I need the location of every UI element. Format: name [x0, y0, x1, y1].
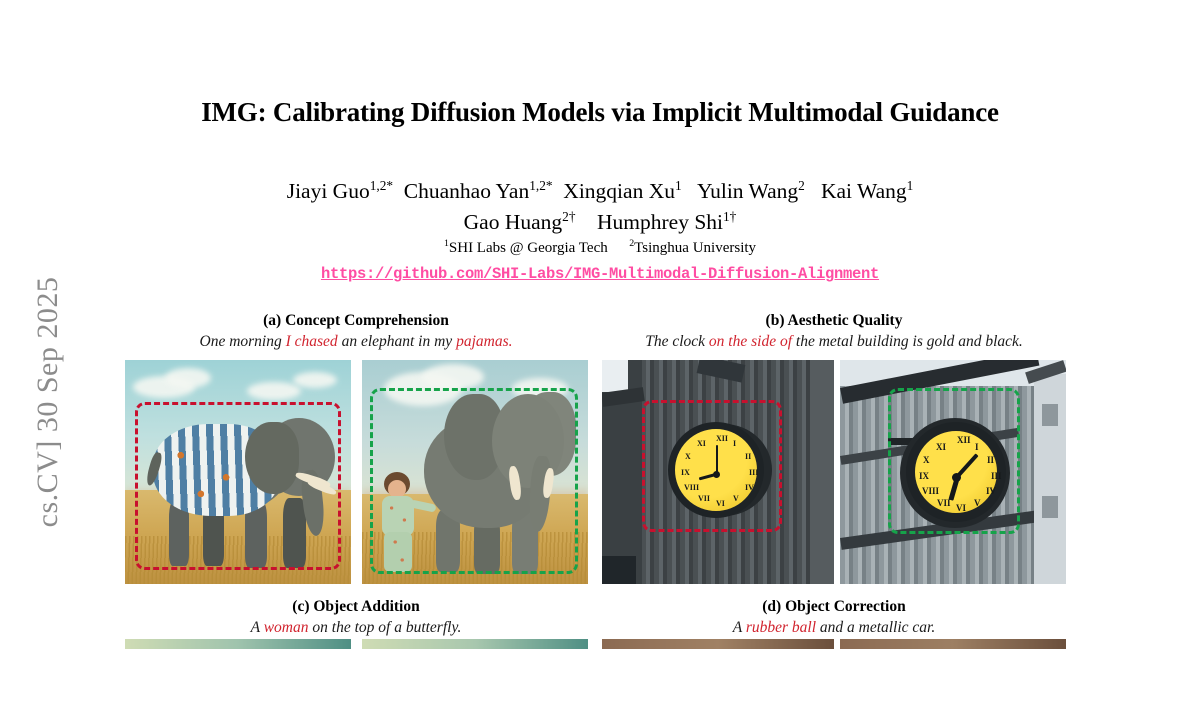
author-entry: Humphrey Shi1† — [597, 210, 736, 234]
author-entry: Jiayi Guo1,2* — [287, 179, 393, 203]
author-entry: Gao Huang2† — [464, 210, 576, 234]
prompt-highlight: I chased — [286, 333, 338, 350]
annotation-box-green-b — [888, 388, 1020, 534]
affiliation-entry: 1SHI Labs @ Georgia Tech — [444, 240, 608, 256]
author-affiliation-mark: 1 — [907, 178, 914, 193]
author-affiliation-mark: 1,2* — [529, 178, 552, 193]
prompt-highlight: woman — [264, 619, 309, 636]
subfigure-caption-c: (c) Object Addition — [125, 598, 587, 616]
figure-image-a-left[interactable] — [125, 360, 351, 584]
subfigure-caption-b: (b) Aesthetic Quality — [600, 312, 1068, 330]
author-entry: Xingqian Xu1 — [563, 179, 681, 203]
affiliation-line: 1SHI Labs @ Georgia Tech 2Tsinghua Unive… — [150, 238, 1050, 257]
page-title: IMG: Calibrating Diffusion Models via Im… — [100, 97, 1100, 128]
prompt-text: the metal building is gold and black. — [792, 333, 1023, 350]
prompt-text: The clock — [645, 333, 709, 350]
prompt-highlight: on the side of — [709, 333, 792, 350]
prompt-text: A — [251, 619, 264, 636]
affiliation-entry: 2Tsinghua University — [629, 240, 756, 256]
annotation-box-green-a — [370, 388, 578, 574]
prompt-text: A — [733, 619, 746, 636]
prompt-text: on the top of a butterfly. — [309, 619, 462, 636]
prompt-text: and a metallic car. — [816, 619, 935, 636]
author-entry: Chuanhao Yan1,2* — [404, 179, 553, 203]
repository-url-link[interactable]: https://github.com/SHI-Labs/IMG-Multimod… — [150, 265, 1050, 283]
subfigure-prompt-d: A rubber ball and a metallic car. — [602, 619, 1066, 637]
annotation-box-red-b — [642, 400, 782, 532]
author-affiliation-mark: 2 — [798, 178, 805, 193]
author-entry: Kai Wang1 — [821, 179, 913, 203]
author-line-2: Gao Huang2† Humphrey Shi1† — [464, 210, 737, 234]
author-affiliation-mark: 2† — [562, 208, 575, 223]
subfigure-prompt-c: A woman on the top of a butterfly. — [125, 619, 587, 637]
figure-image-b-right[interactable]: XII I II III IV V VI VII VIII IX X XI — [840, 360, 1066, 584]
figure-image-a-right[interactable] — [362, 360, 588, 584]
figure-image-b-left[interactable]: XII I II III IV V VI VII VIII IX X XI — [602, 360, 834, 584]
author-list: Jiayi Guo1,2* Chuanhao Yan1,2* Xingqian … — [150, 176, 1050, 237]
subfigure-caption-d: (d) Object Correction — [602, 598, 1066, 616]
author-line-1: Jiayi Guo1,2* Chuanhao Yan1,2* Xingqian … — [287, 179, 914, 203]
prompt-text: One morning — [200, 333, 286, 350]
author-affiliation-mark: 1 — [675, 178, 682, 193]
prompt-highlight: pajamas. — [456, 333, 512, 350]
subfigure-prompt-b: The clock on the side of the metal build… — [570, 333, 1098, 351]
subfigure-prompt-a: One morning I chased an elephant in my p… — [95, 333, 617, 351]
subfigure-caption-a: (a) Concept Comprehension — [125, 312, 587, 330]
author-affiliation-mark: 1† — [723, 208, 736, 223]
author-entry: Yulin Wang2 — [697, 179, 805, 203]
paper-page: IMG: Calibrating Diffusion Models via Im… — [0, 0, 1200, 648]
prompt-highlight: rubber ball — [746, 619, 816, 636]
annotation-box-red-a — [135, 402, 341, 570]
author-affiliation-mark: 1,2* — [370, 178, 393, 193]
prompt-text: an elephant in my — [338, 333, 456, 350]
